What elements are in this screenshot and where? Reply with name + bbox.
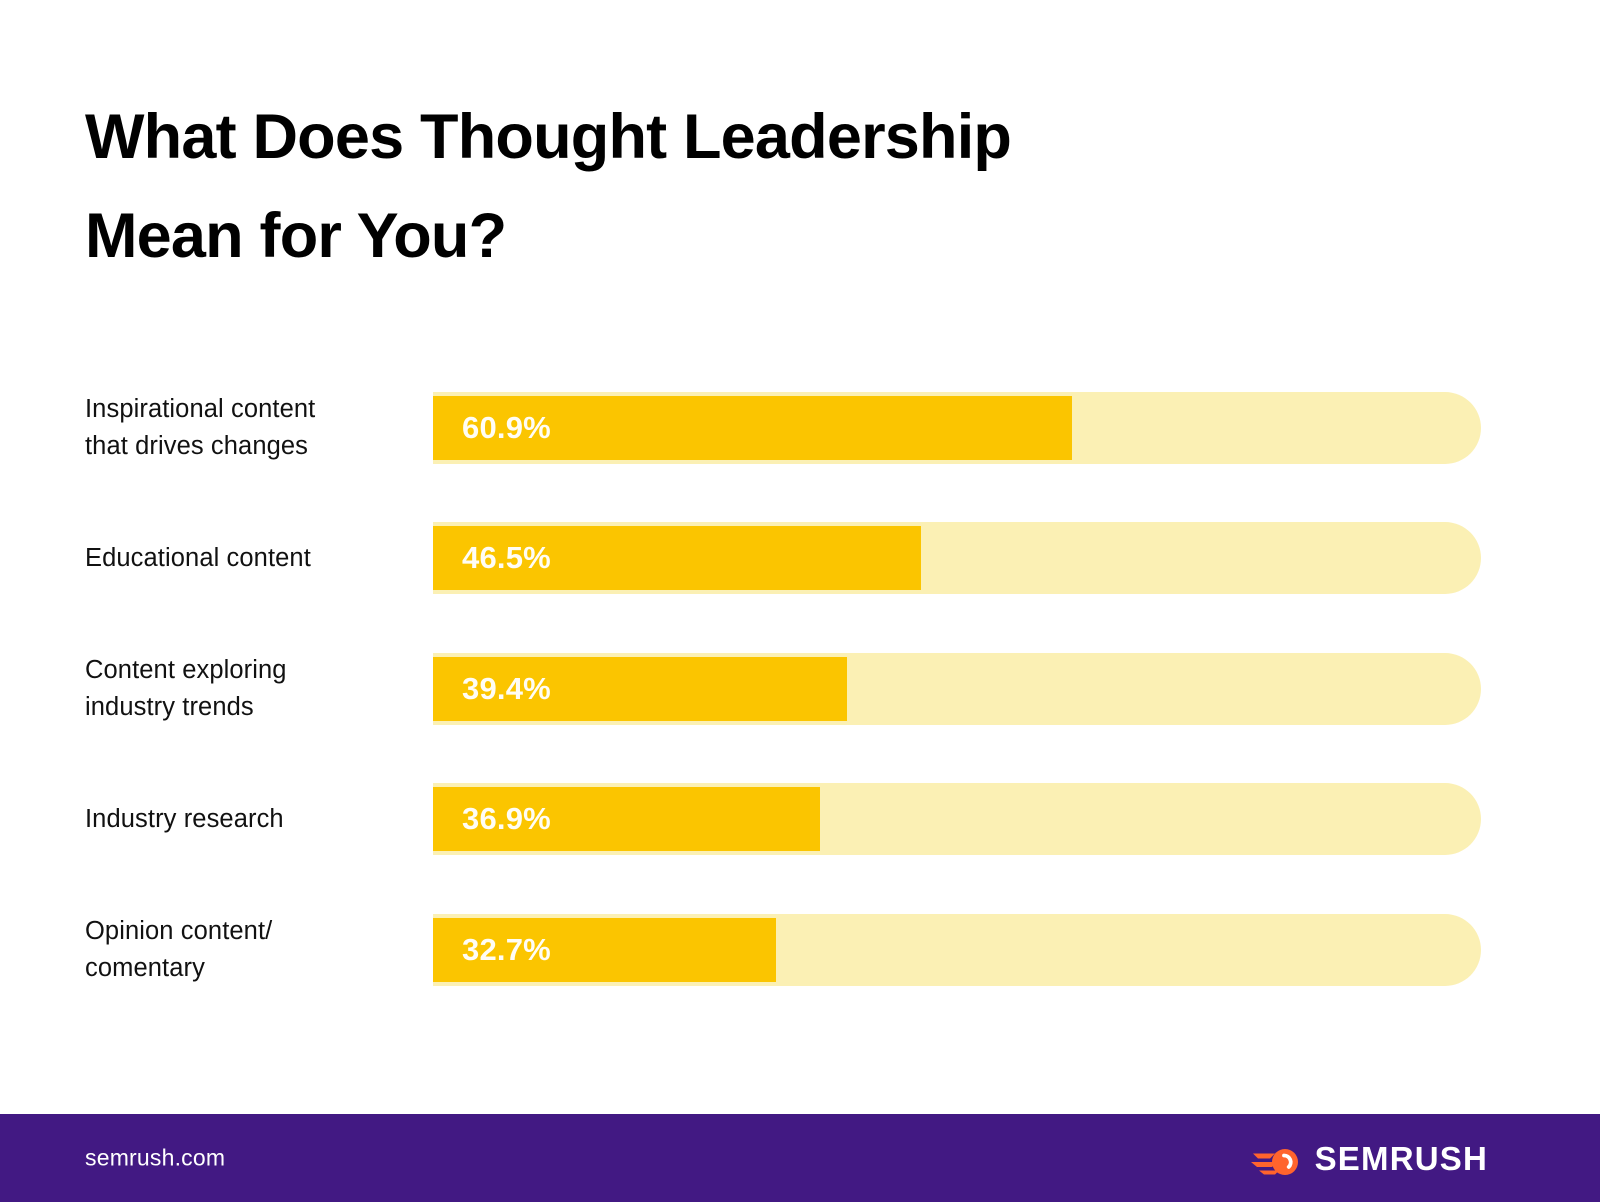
bar-category-label: Content exploring industry trends	[85, 639, 415, 739]
page-title: What Does Thought Leadership Mean for Yo…	[85, 88, 1285, 286]
bar-row: Opinion content/ comentary 32.7%	[0, 900, 1600, 1000]
bar-row: Inspirational content that drives change…	[0, 378, 1600, 478]
bar-row: Industry research 36.9%	[0, 769, 1600, 869]
title-block: What Does Thought Leadership Mean for Yo…	[85, 88, 1285, 286]
footer-website-url[interactable]: semrush.com	[85, 1145, 225, 1172]
bar-value-label: 39.4%	[462, 671, 551, 707]
bar-value-label: 60.9%	[462, 410, 551, 446]
semrush-logo[interactable]: SEMRUSH	[1251, 1140, 1488, 1176]
bar-value-label: 46.5%	[462, 540, 551, 576]
bar-fill: 46.5%	[433, 526, 921, 590]
bar-category-label: Inspirational content that drives change…	[85, 378, 415, 478]
bar-value-label: 36.9%	[462, 801, 551, 837]
bar-fill: 39.4%	[433, 657, 847, 721]
bar-chart: Inspirational content that drives change…	[0, 378, 1600, 1038]
bar-category-label: Opinion content/ comentary	[85, 900, 415, 1000]
bar-fill: 36.9%	[433, 787, 820, 851]
bar-row: Content exploring industry trends 39.4%	[0, 639, 1600, 739]
semrush-comet-icon	[1251, 1140, 1301, 1176]
bar-row: Educational content 46.5%	[0, 508, 1600, 608]
semrush-wordmark: SEMRUSH	[1315, 1142, 1488, 1175]
infographic-canvas: What Does Thought Leadership Mean for Yo…	[0, 0, 1600, 1202]
bar-category-label: Educational content	[85, 508, 415, 608]
bar-category-label: Industry research	[85, 769, 415, 869]
footer-bar: semrush.com SEMRUSH	[0, 1114, 1600, 1202]
bar-value-label: 32.7%	[462, 932, 551, 968]
bar-fill: 60.9%	[433, 396, 1072, 460]
bar-fill: 32.7%	[433, 918, 776, 982]
